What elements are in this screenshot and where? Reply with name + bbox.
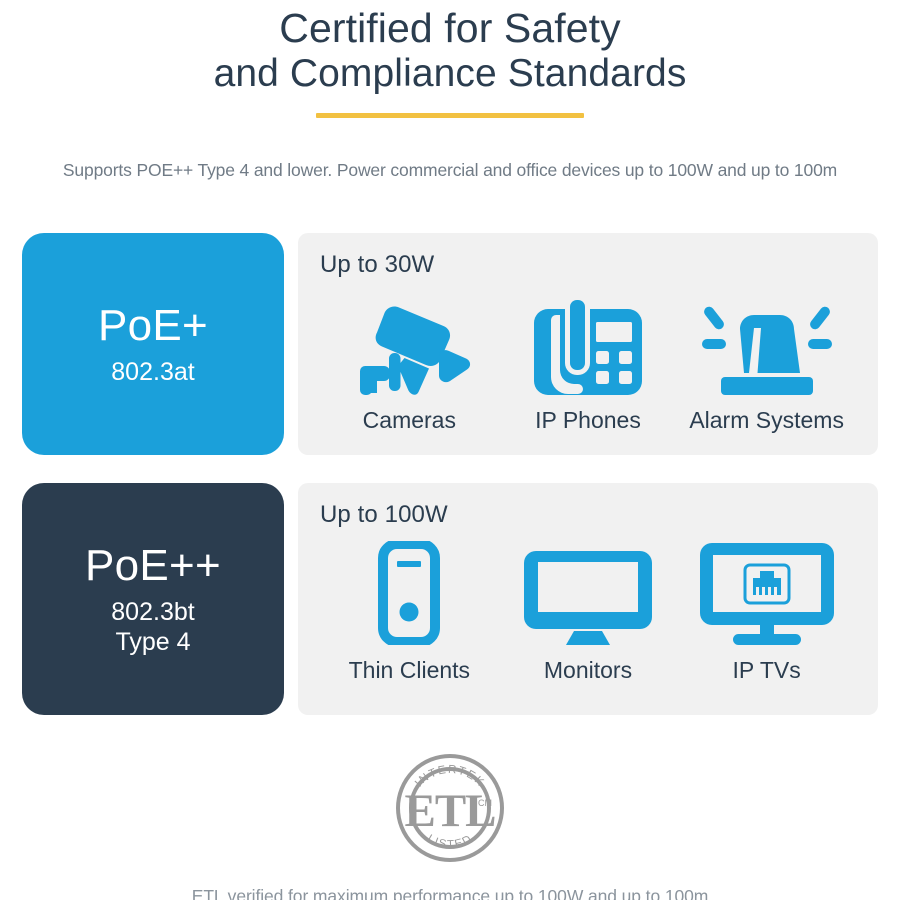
- poe-plus-row: PoE+ 802.3at Up to 30W: [22, 233, 878, 455]
- device-item-ip-phones: IP Phones: [500, 289, 677, 434]
- poe-plusplus-standard-line-1: 802.3bt: [111, 597, 194, 627]
- thin-client-icon: [378, 541, 440, 645]
- ip-tv-icon: [700, 541, 834, 645]
- security-camera-icon: [346, 303, 472, 395]
- device-label-ip-phones: IP Phones: [535, 407, 641, 434]
- ip-phone-icon-box: [534, 289, 642, 395]
- alarm-icon-box: [692, 289, 842, 395]
- page-title-line-2: and Compliance Standards: [0, 51, 900, 96]
- ip-phone-icon: [534, 295, 642, 395]
- etl-listed-intertek-mark: INTERTEK LISTED ETL CM: [394, 752, 506, 864]
- device-label-thin-clients: Thin Clients: [349, 657, 470, 684]
- poe-plusplus-panel: Up to 100W Thin Clients: [298, 483, 878, 715]
- poe-plusplus-badge: PoE++ 802.3bt Type 4: [22, 483, 284, 715]
- title-accent-rule: [316, 113, 584, 118]
- poe-plus-device-list: Cameras: [320, 289, 856, 434]
- poe-plusplus-row: PoE++ 802.3bt Type 4 Up to 100W: [22, 483, 878, 715]
- poe-plusplus-badge-standard: 802.3bt Type 4: [111, 597, 194, 657]
- page-subtitle: Supports POE++ Type 4 and lower. Power c…: [0, 160, 900, 181]
- device-item-ip-tvs: IP TVs: [678, 539, 855, 684]
- device-item-thin-clients: Thin Clients: [321, 539, 498, 684]
- poe-plus-power-heading: Up to 30W: [320, 251, 856, 279]
- page-header: Certified for Safety and Compliance Stan…: [0, 0, 900, 181]
- certification-section: INTERTEK LISTED ETL CM ETL verified for …: [0, 752, 900, 900]
- thin-client-icon-box: [378, 539, 440, 645]
- poe-plusplus-standard-line-2: Type 4: [111, 627, 194, 657]
- poe-plus-badge-title: PoE+: [98, 301, 208, 351]
- device-item-alarm-systems: Alarm Systems: [678, 289, 855, 434]
- infographic-page: Certified for Safety and Compliance Stan…: [0, 0, 900, 900]
- etl-center-text: ETL: [404, 785, 495, 837]
- poe-plus-badge: PoE+ 802.3at: [22, 233, 284, 455]
- monitor-icon-box: [524, 539, 652, 645]
- poe-plusplus-badge-title: PoE++: [85, 541, 221, 591]
- poe-plus-panel: Up to 30W: [298, 233, 878, 455]
- device-item-cameras: Cameras: [321, 289, 498, 434]
- poe-plusplus-device-list: Thin Clients Monitors: [320, 539, 856, 684]
- device-label-monitors: Monitors: [544, 657, 632, 684]
- device-label-cameras: Cameras: [363, 407, 456, 434]
- device-label-alarm-systems: Alarm Systems: [689, 407, 844, 434]
- poe-plusplus-power-heading: Up to 100W: [320, 501, 856, 529]
- ip-tv-icon-box: [700, 539, 834, 645]
- etl-superscript-cm: CM: [478, 798, 492, 808]
- page-title-line-1: Certified for Safety: [0, 6, 900, 51]
- camera-icon-box: [346, 289, 472, 395]
- device-item-monitors: Monitors: [500, 539, 677, 684]
- monitor-icon: [524, 547, 652, 645]
- poe-plus-badge-standard: 802.3at: [111, 357, 194, 387]
- device-label-ip-tvs: IP TVs: [733, 657, 801, 684]
- certification-caption: ETL verified for maximum performance up …: [192, 886, 708, 900]
- alarm-siren-icon: [692, 297, 842, 395]
